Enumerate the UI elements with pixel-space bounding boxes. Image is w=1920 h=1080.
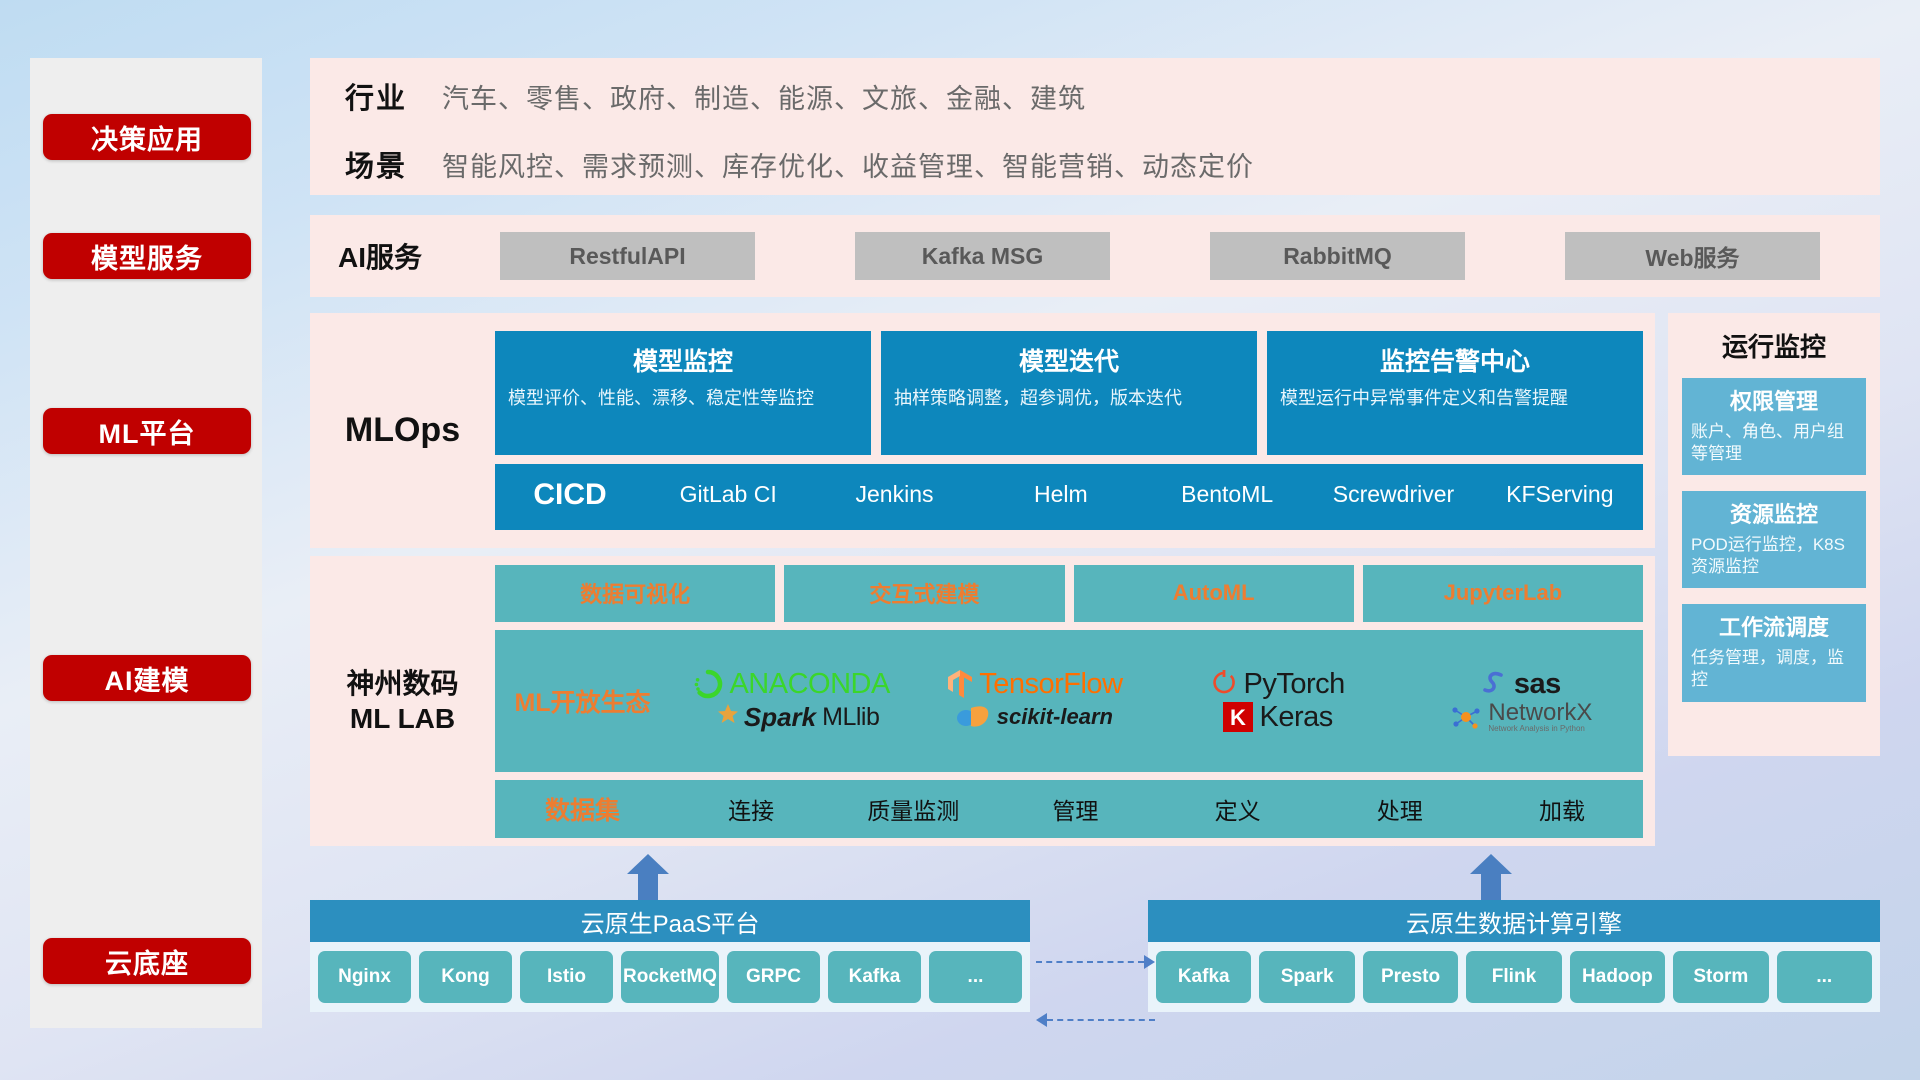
arrowhead-left-icon xyxy=(1036,1013,1047,1027)
mllib-wordmark: MLlib xyxy=(822,703,879,732)
rail-label: ML平台 xyxy=(99,412,196,451)
cicd-item-bentoml[interactable]: BentoML xyxy=(1144,464,1310,509)
layer-rail: 决策应用 模型服务 ML平台 AI建模 云底座 xyxy=(30,58,262,1028)
pytorch-icon xyxy=(1211,669,1237,699)
cloud-chip-nginx[interactable]: Nginx xyxy=(318,951,411,1003)
dataset-band: 数据集 连接 质量监测 管理 定义 处理 加载 xyxy=(495,780,1643,838)
rail-item-ai-modeling[interactable]: AI建模 xyxy=(43,655,251,701)
monitor-card-workflow[interactable]: 工作流调度 任务管理，调度，监控 xyxy=(1682,604,1866,701)
rail-label: 决策应用 xyxy=(91,118,203,157)
keras-logo[interactable]: K Keras xyxy=(1223,701,1332,734)
rail-label: AI建模 xyxy=(105,659,190,698)
monitor-card-resource[interactable]: 资源监控 POD运行监控，K8S资源监控 xyxy=(1682,491,1866,588)
card-title: 权限管理 xyxy=(1691,384,1857,416)
spark-mllib-logo[interactable]: Spark MLlib xyxy=(704,702,880,733)
ml-lab-label-line2: ML LAB xyxy=(310,701,495,736)
card-desc: 任务管理，调度，监控 xyxy=(1691,647,1857,691)
card-desc: POD运行监控，K8S资源监控 xyxy=(1691,534,1857,578)
ml-lab-label-line1: 神州数码 xyxy=(310,666,495,701)
cicd-bar: CICD GitLab CI Jenkins Helm BentoML Scre… xyxy=(495,464,1643,530)
engine-chip-more[interactable]: ... xyxy=(1777,951,1872,1003)
ml-open-ecosystem-label: ML开放生态 xyxy=(495,683,670,719)
card-title: 模型迭代 xyxy=(894,342,1244,378)
scene-row: 场景 智能风控、需求预测、库存优化、收益管理、智能营销、动态定价 xyxy=(310,130,1880,198)
card-title: 监控告警中心 xyxy=(1280,342,1630,378)
cloud-paas-chip-list: Nginx Kong Istio RocketMQ GRPC Kafka ... xyxy=(310,942,1030,1012)
engine-chip-storm[interactable]: Storm xyxy=(1673,951,1768,1003)
ai-service-box-web-service[interactable]: Web服务 xyxy=(1565,232,1820,280)
pytorch-logo[interactable]: PyTorch xyxy=(1211,668,1344,701)
sas-icon xyxy=(1482,669,1508,699)
rail-item-cloud-base[interactable]: 云底座 xyxy=(43,938,251,984)
card-desc: 模型运行中异常事件定义和告警提醒 xyxy=(1280,387,1630,411)
runtime-monitor-panel: 运行监控 权限管理 账户、角色、用户组等管理 资源监控 POD运行监控，K8S资… xyxy=(1668,313,1880,756)
industry-value: 汽车、零售、政府、制造、能源、文旅、金融、建筑 xyxy=(442,77,1086,116)
logo-text: sas xyxy=(1514,668,1561,701)
tensorflow-icon xyxy=(947,669,973,699)
cloud-data-engine-header: 云原生数据计算引擎 xyxy=(1148,900,1880,942)
dataset-item-process[interactable]: 处理 xyxy=(1319,792,1481,826)
logo-text: NetworkX xyxy=(1488,701,1592,725)
engine-chip-spark[interactable]: Spark xyxy=(1259,951,1354,1003)
card-title: 资源监控 xyxy=(1691,497,1857,529)
lab-tool-automl[interactable]: AutoML xyxy=(1074,565,1354,622)
anaconda-logo[interactable]: ANACONDA xyxy=(693,668,889,701)
ai-service-panel: AI服务 RestfulAPI Kafka MSG RabbitMQ Web服务 xyxy=(310,215,1880,297)
lab-tool-data-visualization[interactable]: 数据可视化 xyxy=(495,565,775,622)
logo-text: Keras xyxy=(1259,701,1332,734)
cloud-paas-group: 云原生PaaS平台 Nginx Kong Istio RocketMQ GRPC… xyxy=(310,900,1030,1012)
cicd-item-kfserving[interactable]: KFServing xyxy=(1477,464,1643,509)
dashed-line xyxy=(1047,1019,1155,1021)
connector-arrow-right xyxy=(1036,955,1155,969)
ml-lab-tool-list: 数据可视化 交互式建模 AutoML JupyterLab xyxy=(495,565,1643,622)
cloud-chip-more[interactable]: ... xyxy=(929,951,1022,1003)
dataset-item-define[interactable]: 定义 xyxy=(1157,792,1319,826)
cloud-chip-kafka[interactable]: Kafka xyxy=(828,951,921,1003)
networkx-icon xyxy=(1450,702,1482,732)
up-arrow-icon xyxy=(625,852,671,900)
mlops-panel: MLOps 模型监控 模型评价、性能、漂移、稳定性等监控 模型迭代 抽样策略调整… xyxy=(310,313,1655,548)
rail-item-model-service[interactable]: 模型服务 xyxy=(43,233,251,279)
rail-item-decision-apps[interactable]: 决策应用 xyxy=(43,114,251,160)
sas-logo[interactable]: sas xyxy=(1482,668,1561,701)
cicd-item-gitlab-ci[interactable]: GitLab CI xyxy=(645,464,811,509)
scene-label: 场景 xyxy=(310,143,442,185)
networkx-tagline: Network Analysis in Python xyxy=(1488,725,1592,733)
networkx-logo[interactable]: NetworkX Network Analysis in Python xyxy=(1450,701,1592,733)
cicd-item-jenkins[interactable]: Jenkins xyxy=(811,464,977,509)
industry-label: 行业 xyxy=(310,75,442,117)
ml-lab-label: 神州数码 ML LAB xyxy=(310,666,495,736)
industry-row: 行业 汽车、零售、政府、制造、能源、文旅、金融、建筑 xyxy=(310,62,1880,130)
scene-value: 智能风控、需求预测、库存优化、收益管理、智能营销、动态定价 xyxy=(442,145,1254,184)
dataset-item-connect[interactable]: 连接 xyxy=(670,792,832,826)
cicd-item-helm[interactable]: Helm xyxy=(978,464,1144,509)
rail-item-ml-platform[interactable]: ML平台 xyxy=(43,408,251,454)
spark-wordmark: Spark xyxy=(744,702,816,733)
mlops-card-model-monitoring[interactable]: 模型监控 模型评价、性能、漂移、稳定性等监控 xyxy=(495,331,871,455)
runtime-monitor-title: 运行监控 xyxy=(1682,327,1866,364)
ai-service-box-list: RestfulAPI Kafka MSG RabbitMQ Web服务 xyxy=(450,232,1880,280)
lab-tool-jupyterlab[interactable]: JupyterLab xyxy=(1363,565,1643,622)
spark-icon xyxy=(704,703,738,731)
ai-service-label: AI服务 xyxy=(310,236,450,276)
ml-lab-content: 数据可视化 交互式建模 AutoML JupyterLab ML开放生态 ANA… xyxy=(495,565,1655,838)
anaconda-icon xyxy=(693,669,723,699)
lab-tool-interactive-modeling[interactable]: 交互式建模 xyxy=(784,565,1064,622)
cicd-item-screwdriver[interactable]: Screwdriver xyxy=(1310,464,1476,509)
logo-text: ANACONDA xyxy=(729,668,889,701)
ml-lab-panel: 神州数码 ML LAB 数据可视化 交互式建模 AutoML JupyterLa… xyxy=(310,556,1655,846)
card-desc: 账户、角色、用户组等管理 xyxy=(1691,421,1857,465)
scikit-learn-icon xyxy=(957,702,991,732)
engine-chip-flink[interactable]: Flink xyxy=(1466,951,1561,1003)
mlops-card-list: 模型监控 模型评价、性能、漂移、稳定性等监控 模型迭代 抽样策略调整，超参调优，… xyxy=(495,331,1643,455)
engine-chip-hadoop[interactable]: Hadoop xyxy=(1570,951,1665,1003)
cloud-paas-header: 云原生PaaS平台 xyxy=(310,900,1030,942)
card-desc: 模型评价、性能、漂移、稳定性等监控 xyxy=(508,387,858,411)
dataset-item-quality-monitoring[interactable]: 质量监测 xyxy=(832,792,994,826)
cloud-data-engine-group: 云原生数据计算引擎 Kafka Spark Presto Flink Hadoo… xyxy=(1148,900,1880,1012)
cicd-title: CICD xyxy=(495,464,645,512)
mlops-label: MLOps xyxy=(310,411,495,450)
scikit-learn-logo[interactable]: scikit-learn xyxy=(957,702,1113,732)
ecosystem-logo-grid: ANACONDA TensorFlow PyTorch xyxy=(670,668,1643,734)
card-desc: 抽样策略调整，超参调优，版本迭代 xyxy=(894,387,1244,411)
connector-arrow-left xyxy=(1036,1013,1155,1027)
up-arrow-icon xyxy=(1468,852,1514,900)
cloud-data-engine-chip-list: Kafka Spark Presto Flink Hadoop Storm ..… xyxy=(1148,942,1880,1012)
mlops-card-alert-center[interactable]: 监控告警中心 模型运行中异常事件定义和告警提醒 xyxy=(1267,331,1643,455)
ai-service-box-rabbitmq[interactable]: RabbitMQ xyxy=(1210,232,1465,280)
cloud-chip-kong[interactable]: Kong xyxy=(419,951,512,1003)
ai-service-box-restfulapi[interactable]: RestfulAPI xyxy=(500,232,755,280)
dataset-title: 数据集 xyxy=(495,791,670,827)
decision-apps-panel: 行业 汽车、零售、政府、制造、能源、文旅、金融、建筑 场景 智能风控、需求预测、… xyxy=(310,58,1880,195)
cloud-chip-rocketmq[interactable]: RocketMQ xyxy=(621,951,719,1003)
engine-chip-kafka[interactable]: Kafka xyxy=(1156,951,1251,1003)
ai-service-box-kafka-msg[interactable]: Kafka MSG xyxy=(855,232,1110,280)
dataset-item-load[interactable]: 加载 xyxy=(1481,792,1643,826)
mlops-card-model-iteration[interactable]: 模型迭代 抽样策略调整，超参调优，版本迭代 xyxy=(881,331,1257,455)
ml-open-ecosystem-band: ML开放生态 ANACONDA TensorFlow xyxy=(495,630,1643,772)
logo-text: PyTorch xyxy=(1243,668,1344,701)
rail-label: 云底座 xyxy=(105,942,189,981)
keras-icon: K xyxy=(1223,702,1253,732)
engine-chip-presto[interactable]: Presto xyxy=(1363,951,1458,1003)
monitor-card-permission[interactable]: 权限管理 账户、角色、用户组等管理 xyxy=(1682,378,1866,475)
svg-text:K: K xyxy=(1231,705,1247,730)
mlops-content: 模型监控 模型评价、性能、漂移、稳定性等监控 模型迭代 抽样策略调整，超参调优，… xyxy=(495,331,1655,530)
card-title: 工作流调度 xyxy=(1691,610,1857,642)
cloud-chip-grpc[interactable]: GRPC xyxy=(727,951,820,1003)
cloud-chip-istio[interactable]: Istio xyxy=(520,951,613,1003)
dashed-line xyxy=(1036,961,1144,963)
tensorflow-logo[interactable]: TensorFlow xyxy=(947,668,1122,701)
logo-text: scikit-learn xyxy=(997,704,1113,730)
arrowhead-right-icon xyxy=(1144,955,1155,969)
logo-text: TensorFlow xyxy=(979,668,1122,701)
card-title: 模型监控 xyxy=(508,342,858,378)
dataset-item-manage[interactable]: 管理 xyxy=(994,792,1156,826)
rail-label: 模型服务 xyxy=(91,237,203,276)
